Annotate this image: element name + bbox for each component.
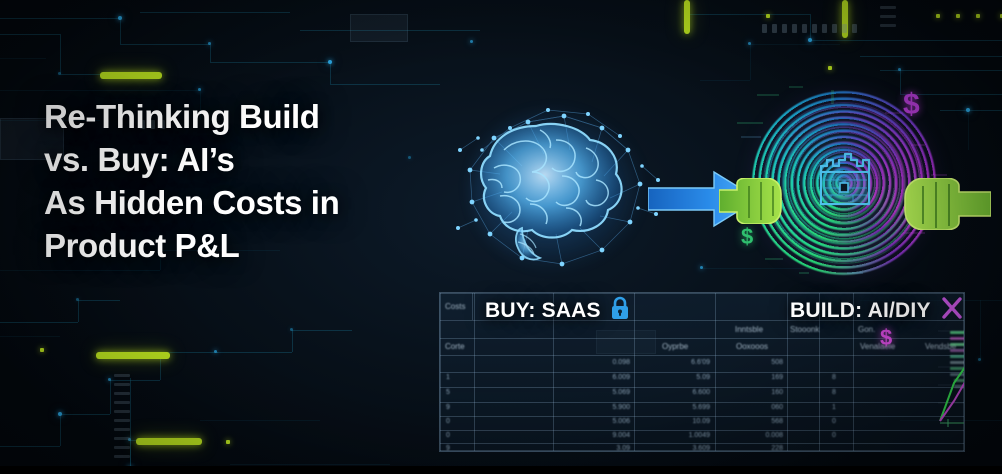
bottom-black-bar [0, 466, 1002, 474]
vignette-overlay [0, 0, 1002, 474]
banner-image: Re-Thinking Build vs. Buy: AI’s As Hidde… [0, 0, 1002, 474]
